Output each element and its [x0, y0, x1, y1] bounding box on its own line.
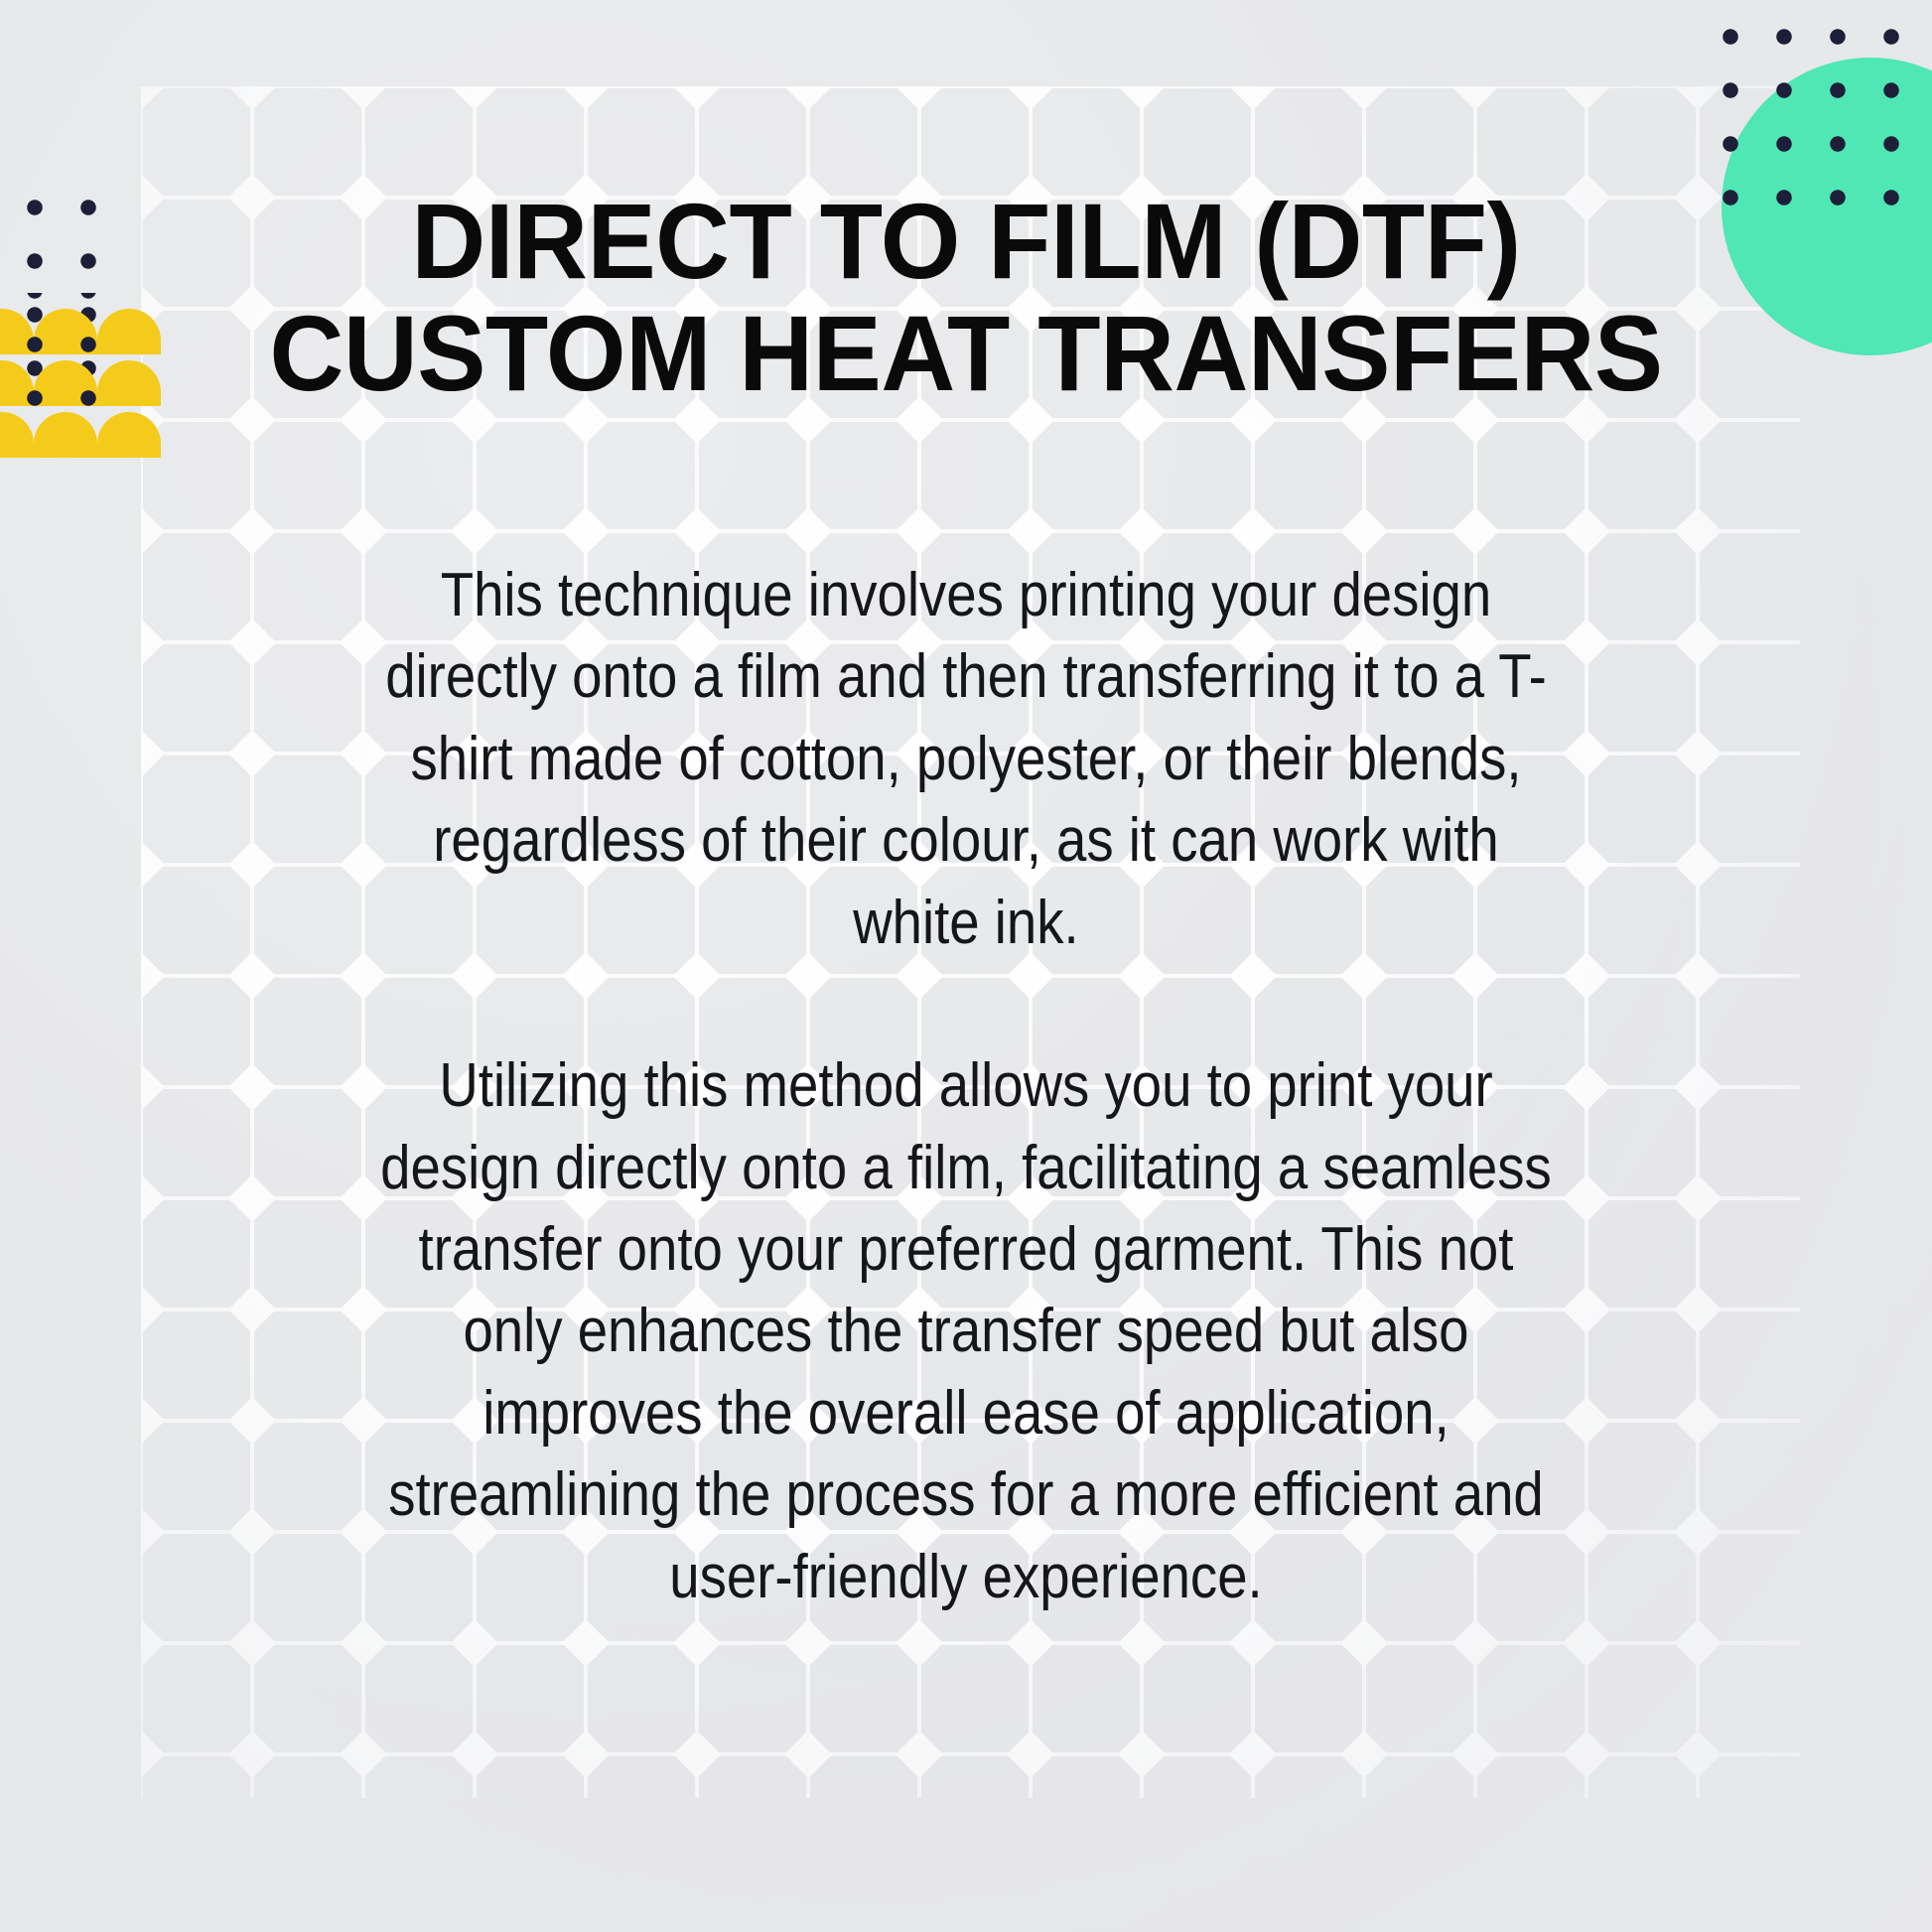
body-paragraph-2: Utilizing this method allows you to prin…	[363, 1045, 1569, 1618]
body-copy: This technique involves printing your de…	[363, 555, 1569, 1618]
poster-canvas: DIRECT TO FILM (DTF) CUSTOM HEAT TRANSFE…	[0, 0, 1932, 1932]
page-title-line-2: CUSTOM HEAT TRANSFERS	[251, 297, 1681, 409]
page-title-line-1: DIRECT TO FILM (DTF)	[251, 185, 1681, 297]
poster-content: DIRECT TO FILM (DTF) CUSTOM HEAT TRANSFE…	[0, 0, 1932, 1932]
body-paragraph-1: This technique involves printing your de…	[363, 555, 1569, 964]
page-title: DIRECT TO FILM (DTF) CUSTOM HEAT TRANSFE…	[251, 185, 1681, 410]
